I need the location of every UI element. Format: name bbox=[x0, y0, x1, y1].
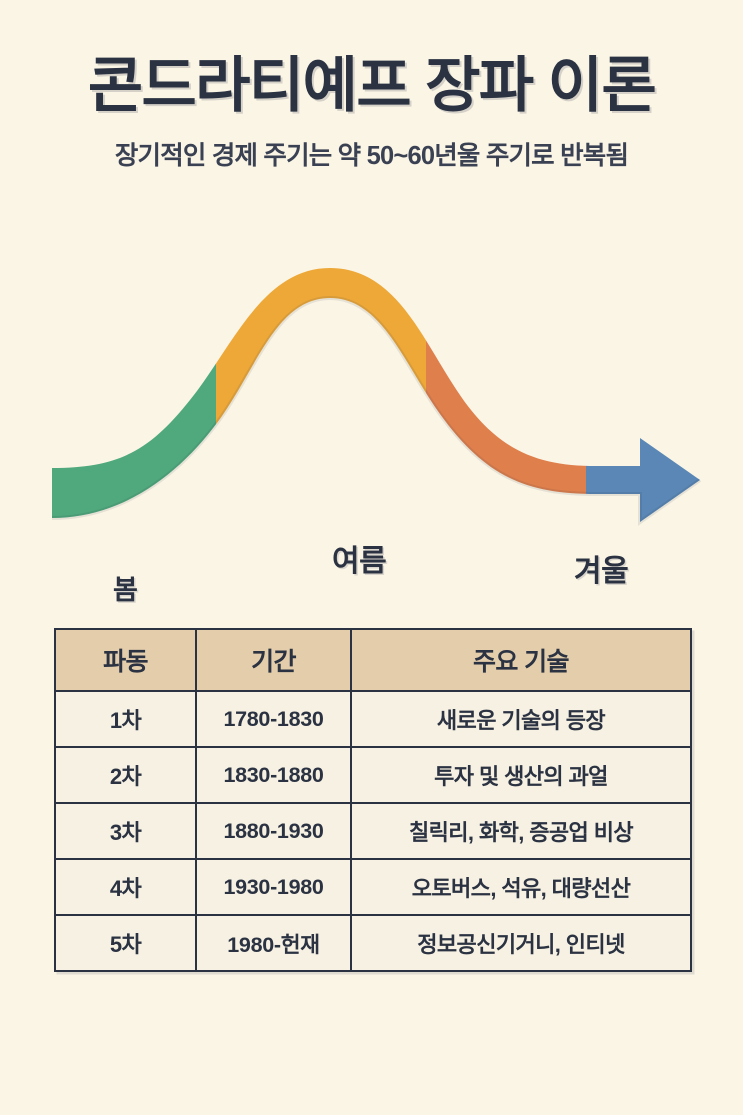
cell-tech: 칠릭리, 화학, 증공업 비상 bbox=[351, 803, 691, 859]
table-row: 4차 1930-1980 오토버스, 석유, 대량선산 bbox=[55, 859, 691, 915]
wave-label-winter: 겨울 bbox=[574, 546, 628, 590]
infographic-header: 콘드라티예프 장파 이론 장기적인 경제 주기는 약 50~60년울 주기로 반… bbox=[0, 0, 743, 172]
page-subtitle: 장기적인 경제 주기는 약 50~60년울 주기로 반복됨 bbox=[0, 119, 743, 172]
table-header: 파동 기간 주요 기술 bbox=[55, 629, 691, 691]
wave-segment-summer bbox=[216, 240, 426, 590]
cell-tech: 정보공신기거니, 인티넷 bbox=[351, 915, 691, 971]
table-body: 1차 1780-1830 새로운 기술의 등장 2차 1830-1880 투자 … bbox=[55, 691, 691, 971]
kondratiev-wave-diagram: 봄 여름 겨울 투자 및 생산의 괌열 새로운 기술 구조조정 bbox=[0, 240, 743, 590]
cell-period: 1780-1830 bbox=[196, 691, 351, 747]
table-row: 5차 1980-헌재 정보공신기거니, 인티넷 bbox=[55, 915, 691, 971]
wave-label-summer: 여름 bbox=[332, 536, 386, 580]
wave-summary-table-container: 파동 기간 주요 기술 1차 1780-1830 새로운 기술의 등장 2차 1… bbox=[54, 628, 690, 972]
wave-segment-autumn bbox=[426, 240, 586, 590]
column-header-period: 기간 bbox=[196, 629, 351, 691]
cell-wave: 4차 bbox=[55, 859, 196, 915]
cell-wave: 3차 bbox=[55, 803, 196, 859]
table-row: 3차 1880-1930 칠릭리, 화학, 증공업 비상 bbox=[55, 803, 691, 859]
wave-segment-winter bbox=[586, 240, 743, 590]
column-header-wave: 파동 bbox=[55, 629, 196, 691]
cell-period: 1830-1880 bbox=[196, 747, 351, 803]
cell-period: 1980-헌재 bbox=[196, 915, 351, 971]
wave-segment-spring bbox=[0, 240, 216, 590]
cell-wave: 2차 bbox=[55, 747, 196, 803]
table-row: 1차 1780-1830 새로운 기술의 등장 bbox=[55, 691, 691, 747]
cell-wave: 5차 bbox=[55, 915, 196, 971]
cell-period: 1880-1930 bbox=[196, 803, 351, 859]
cell-tech: 새로운 기술의 등장 bbox=[351, 691, 691, 747]
cell-period: 1930-1980 bbox=[196, 859, 351, 915]
cell-wave: 1차 bbox=[55, 691, 196, 747]
cell-tech: 오토버스, 석유, 대량선산 bbox=[351, 859, 691, 915]
table-header-row: 파동 기간 주요 기술 bbox=[55, 629, 691, 691]
column-header-tech: 주요 기술 bbox=[351, 629, 691, 691]
table-row: 2차 1830-1880 투자 및 생산의 과얼 bbox=[55, 747, 691, 803]
cell-tech: 투자 및 생산의 과얼 bbox=[351, 747, 691, 803]
wave-summary-table: 파동 기간 주요 기술 1차 1780-1830 새로운 기술의 등장 2차 1… bbox=[54, 628, 692, 972]
page-title: 콘드라티예프 장파 이론 bbox=[0, 0, 743, 119]
wave-label-spring: 봄 bbox=[113, 568, 137, 607]
